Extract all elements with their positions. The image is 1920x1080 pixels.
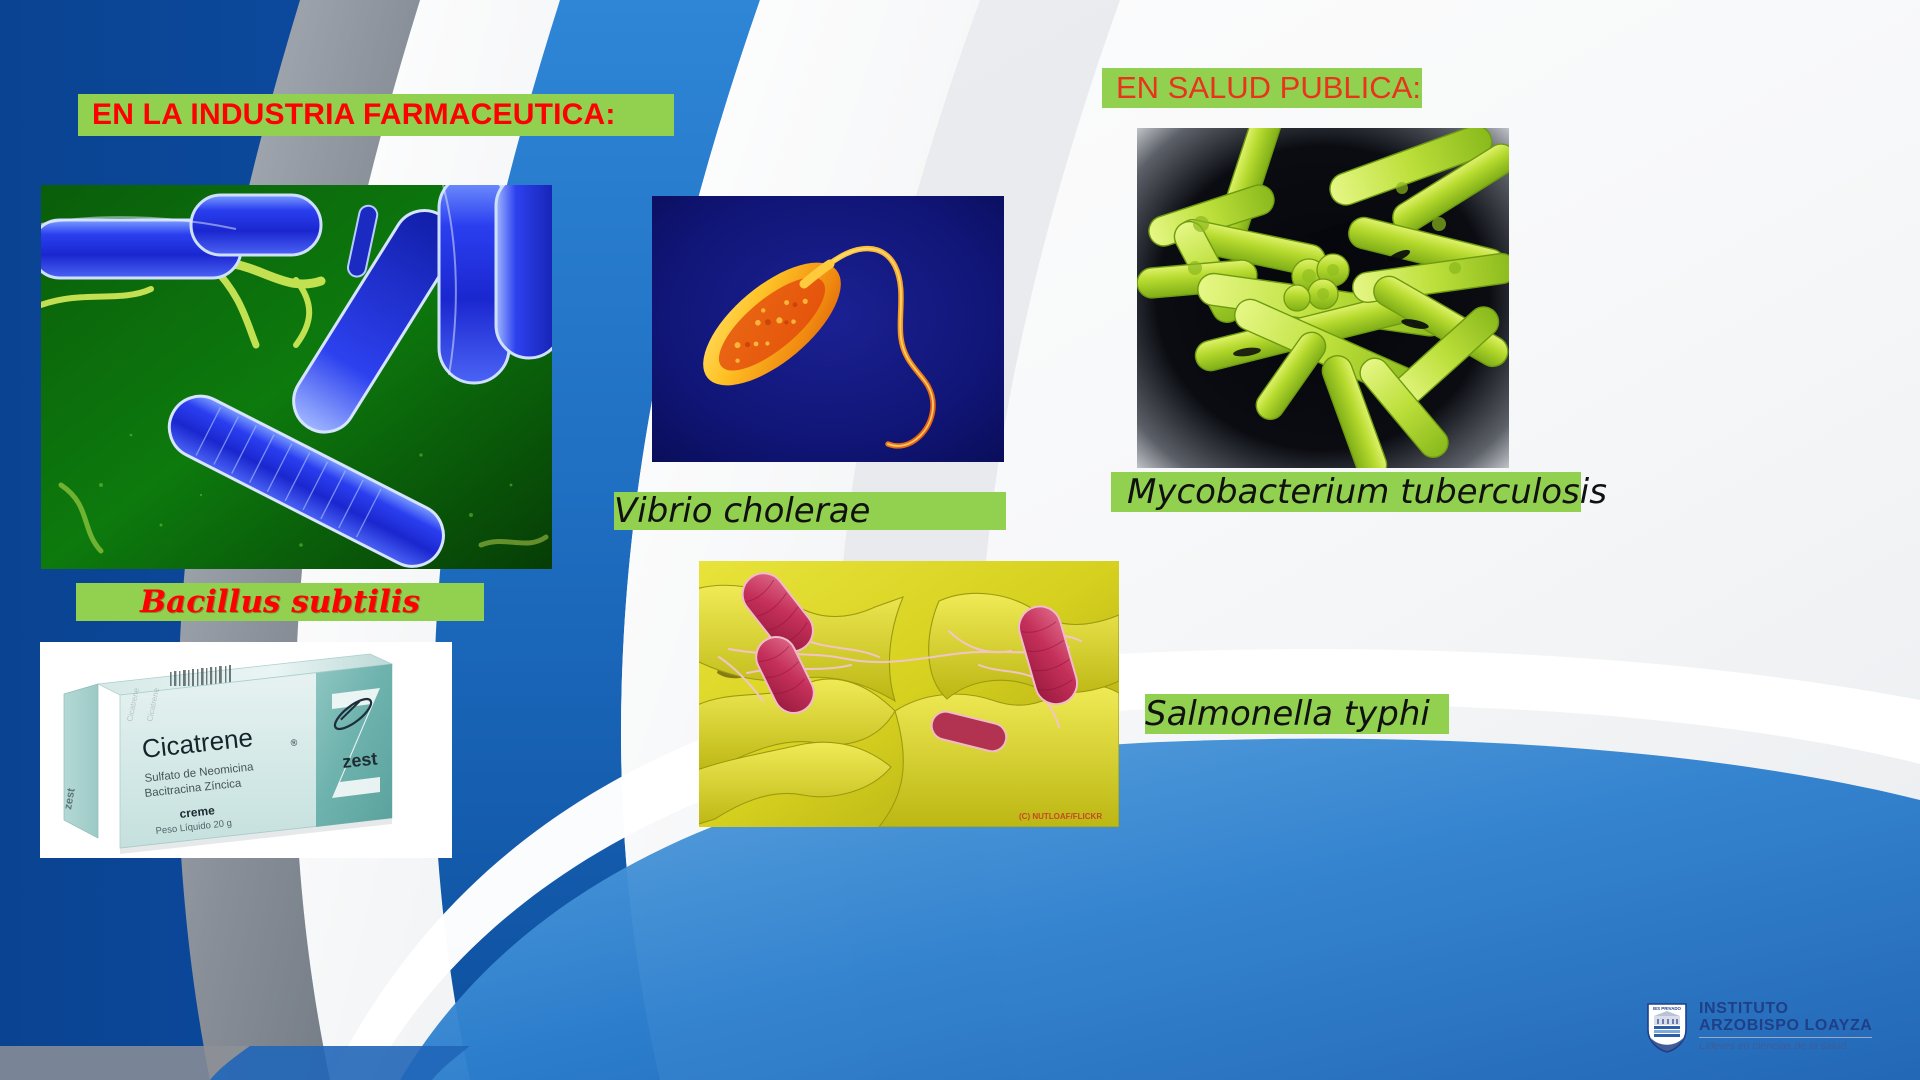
logo-line-2: ARZOBISPO LOAYZA [1699,1017,1872,1034]
institute-logo: IES PRIVADO INSTITUTO ARZOBISPO LOAYZA L… [1645,998,1872,1054]
shield-icon: IES PRIVADO [1645,998,1689,1054]
caption-bacillus-text: Bacillus subtilis [76,584,484,620]
heading-banner-public-health: EN SALUD PUBLICA: [1102,68,1422,108]
cicatrene-product-photo: zest Cicatrene ® Sulfato de Neomicina Ba… [40,642,452,858]
mycobacterium-micrograph [1137,128,1509,468]
mycobacterium-micrograph-graphic [1137,128,1509,468]
caption-vibrio-text: Vibrio cholerae [614,491,870,531]
heading-banner-pharma: EN LA INDUSTRIA FARMACEUTICA: [78,94,674,136]
bacillus-micrograph [41,185,552,569]
caption-salmonella-text: Salmonella typhi [1145,694,1430,734]
caption-banner-mycobacterium: Mycobacterium tuberculosis [1111,472,1581,512]
caption-banner-bacillus: Bacillus subtilis [76,583,484,621]
salmonella-micrograph: (C) NUTLOAF/FLICKR [699,561,1119,827]
cicatrene-box-graphic: zest Cicatrene ® Sulfato de Neomicina Ba… [40,642,452,858]
vibrio-micrograph [652,196,1004,462]
heading-pharma-text: EN LA INDUSTRIA FARMACEUTICA: [78,98,616,132]
slide-canvas: EN LA INDUSTRIA FARMACEUTICA: EN SALUD P… [0,0,1920,1080]
logo-text-block: INSTITUTO ARZOBISPO LOAYZA Líderes en ci… [1699,1000,1872,1053]
bacillus-micrograph-graphic [41,185,552,569]
product-manufacturer-label: zest [341,748,378,772]
caption-banner-salmonella: Salmonella typhi [1145,694,1449,734]
logo-tagline: Líderes en ciencias de la salud [1699,1041,1872,1052]
shield-top-label: IES PRIVADO [1653,1006,1682,1011]
vibrio-micrograph-graphic [652,196,1004,462]
salmonella-micrograph-graphic: (C) NUTLOAF/FLICKR [699,561,1119,827]
caption-mycobacterium-text: Mycobacterium tuberculosis [1111,472,1607,512]
logo-line-1: INSTITUTO [1699,1000,1872,1017]
logo-divider [1699,1037,1872,1038]
heading-public-health-text: EN SALUD PUBLICA: [1102,70,1421,106]
caption-banner-vibrio: Vibrio cholerae [614,492,1006,530]
salmonella-watermark: (C) NUTLOAF/FLICKR [1019,812,1102,821]
